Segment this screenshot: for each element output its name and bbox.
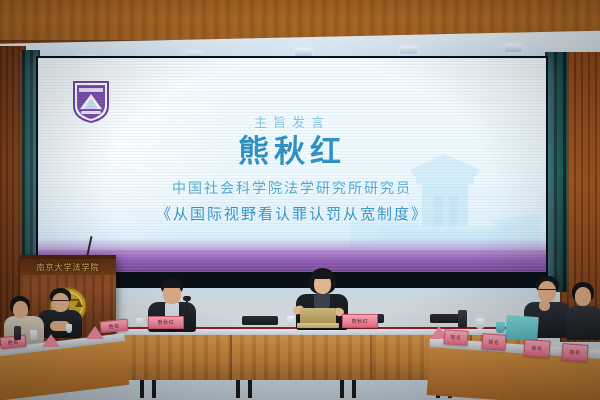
table-leg <box>248 380 252 398</box>
nameplate-text: 姓名 <box>569 349 580 357</box>
audience-right-2-torso <box>566 306 600 340</box>
speaker-center-fringe <box>312 271 333 279</box>
paper-cup <box>476 318 484 329</box>
audience-left-1-glasses <box>52 300 69 304</box>
audience-right-2-head <box>575 287 591 306</box>
table-leg <box>352 380 356 398</box>
slide-speaker-name: 熊秋红 <box>38 135 546 171</box>
right-curtain <box>545 52 567 292</box>
table-leg <box>152 380 156 398</box>
nameplate-text: 姓名 <box>450 334 461 342</box>
paper-cup <box>287 316 294 326</box>
table-seam <box>370 335 372 380</box>
nameplate-text: 熊秋红 <box>352 318 369 325</box>
slide-kicker: 主旨发言 <box>38 112 546 131</box>
water-bottle <box>14 326 21 340</box>
table-leg <box>340 380 344 398</box>
slide-text-block: 主旨发言 熊秋红 中国社会科学院法学研究所研究员 《从国际视野看认罪认罚从宽制度… <box>38 112 546 224</box>
nameplate-panelist-left: 熊秋红 <box>148 316 184 329</box>
panelist-left-fringe <box>162 280 182 288</box>
podium-banner-text: 南京大学法学院 <box>37 262 100 273</box>
tent-card <box>42 334 60 347</box>
av-speaker-box <box>430 314 460 323</box>
audience-left-2 <box>4 296 44 340</box>
nameplate-right-2: 姓名 <box>481 333 506 351</box>
downlight-4 <box>400 46 417 54</box>
conference-hall-photo: 主旨发言 熊秋红 中国社会科学院法学研究所研究员 《从国际视野看认罪认罚从宽制度… <box>0 0 600 400</box>
podium-banner: 南京大学法学院 <box>20 259 116 275</box>
thermos-bottle <box>458 310 467 328</box>
teal-mug <box>496 322 505 333</box>
nameplate-speaker-center: 熊秋红 <box>342 314 378 328</box>
paper-cup <box>30 330 37 340</box>
audience-right-1-hand-chin <box>539 300 550 311</box>
slide-affiliation: 中国社会科学院法学研究所研究员 <box>38 178 546 198</box>
table-microphone-head <box>183 296 191 301</box>
nameplate-text: 姓名 <box>531 345 542 353</box>
table-microphone <box>186 300 188 322</box>
paper-cup <box>66 324 72 333</box>
table-leg <box>140 380 144 398</box>
nameplate-right-3: 姓名 <box>523 339 550 358</box>
av-speaker-box <box>242 316 278 325</box>
audience-left-1 <box>38 288 82 336</box>
downlight-3 <box>295 48 312 56</box>
table-seam <box>230 335 232 380</box>
laptop-base <box>297 323 339 328</box>
teal-folder <box>505 315 539 341</box>
nameplate-text: 熊秋红 <box>158 319 175 326</box>
downlight-5 <box>505 44 522 52</box>
nameplate-text: 姓名 <box>108 322 120 330</box>
nameplate-right-1: 姓名 <box>444 329 469 346</box>
nameplate-text: 姓名 <box>488 338 499 346</box>
nameplate-right-4: 姓名 <box>561 343 588 362</box>
projection-screen-frame: 主旨发言 熊秋红 中国社会科学院法学研究所研究员 《从国际视野看认罪认罚从宽制度… <box>36 56 548 288</box>
paper-cup <box>136 318 143 327</box>
projection-screen: 主旨发言 熊秋红 中国社会科学院法学研究所研究员 《从国际视野看认罪认罚从宽制度… <box>38 58 546 272</box>
audience-right-1-glasses <box>538 289 556 293</box>
table-leg <box>236 380 240 398</box>
audience-left-2-head <box>13 301 28 318</box>
slide-talk-title: 《从国际视野看认罪认罚从宽制度》 <box>38 203 546 224</box>
audience-right-2 <box>566 282 600 340</box>
laptop-lid <box>300 308 336 324</box>
speaker-center-blouse <box>314 294 330 308</box>
